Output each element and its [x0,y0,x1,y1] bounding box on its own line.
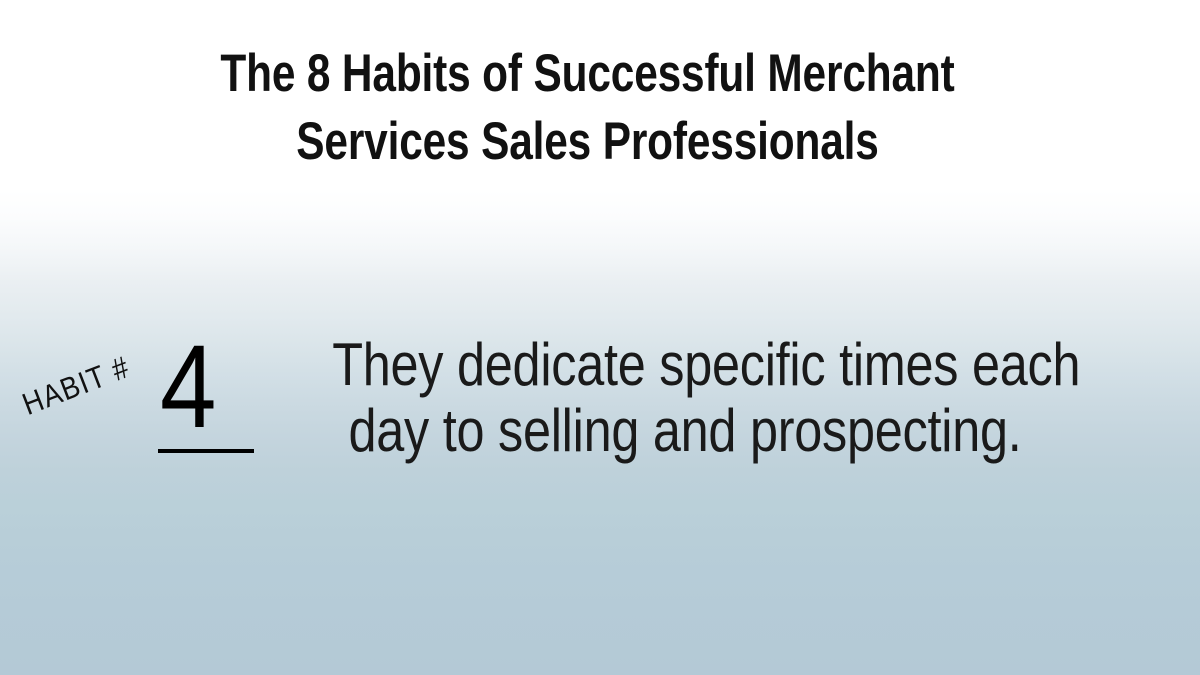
habit-statement-line-1: They dedicate specific times each [332,332,1038,398]
slide-title-line-1: The 8 Habits of Successful Merchant [118,40,1058,108]
slide-title-line-2: Services Sales Professionals [118,108,1058,176]
habit-statement: They dedicate specific times each day to… [265,332,1105,464]
habit-marker: HABIT # 4 [0,300,280,500]
habit-underline-rule [158,449,254,453]
presentation-slide: The 8 Habits of Successful Merchant Serv… [0,0,1200,675]
habit-number: 4 [160,328,216,446]
slide-title: The 8 Habits of Successful Merchant Serv… [0,40,1175,176]
habit-statement-line-2: day to selling and prospecting. [332,398,1038,464]
habit-label: HABIT # [18,349,135,423]
